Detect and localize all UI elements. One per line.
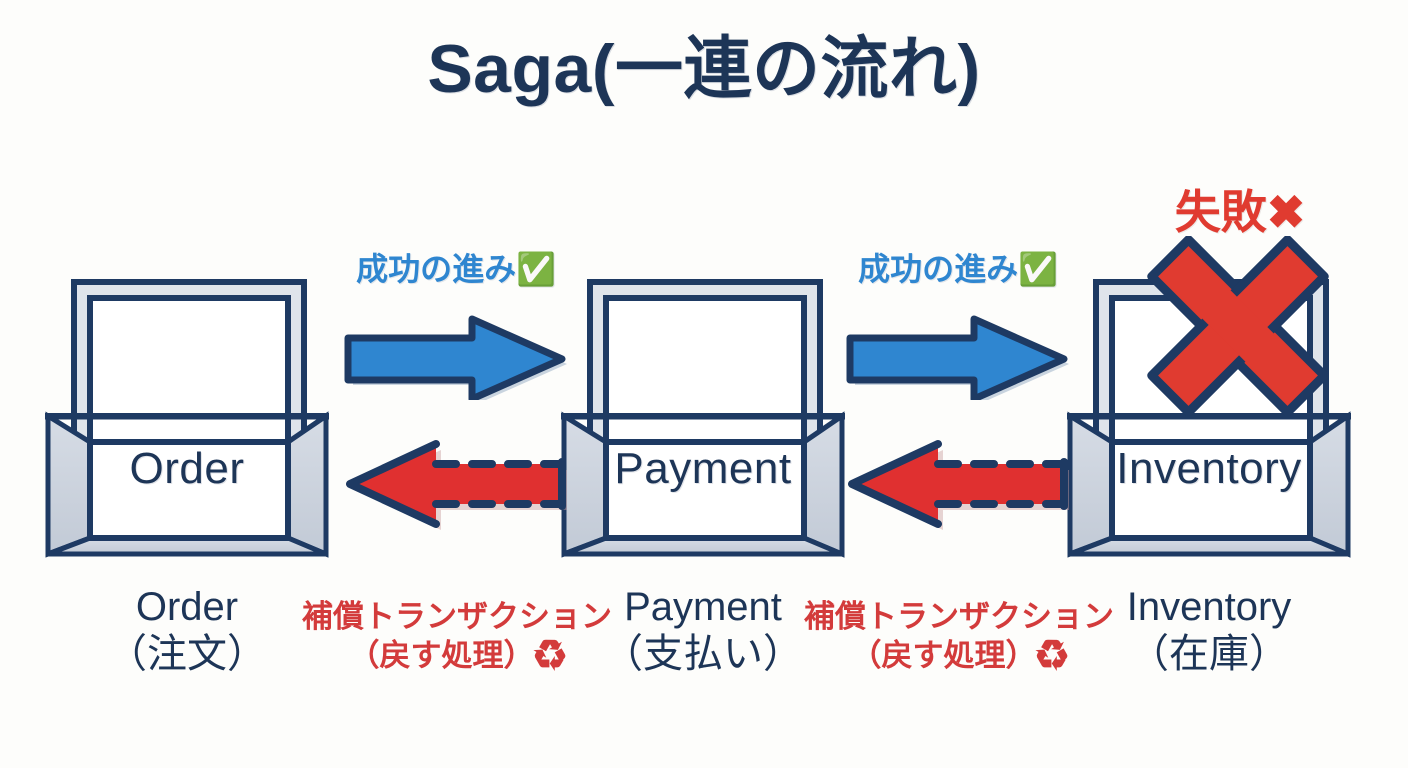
- check-mark-icon: ✅: [516, 251, 556, 287]
- node-payment[interactable]: Payment: [558, 276, 848, 561]
- compensating-label-1-line1: 補償トランザクション: [302, 599, 612, 634]
- compensating-arrow-label-1: 補償トランザクション （戻す処理）♻: [292, 598, 622, 676]
- node-caption-order-en: Order: [136, 585, 238, 629]
- forward-arrow-1[interactable]: [344, 310, 569, 400]
- compensating-label-2-line2: （戻す処理）♻: [794, 637, 1124, 676]
- forward-arrow-label-2: 成功の進み✅: [808, 244, 1108, 290]
- forward-arrow-label-2-text: 成功の進み: [858, 251, 1018, 287]
- node-order[interactable]: Order: [42, 276, 332, 561]
- compensating-arrow-2[interactable]: [846, 432, 1071, 532]
- diagram-canvas: Saga(一連の流れ): [0, 0, 1408, 768]
- node-caption-inventory-en: Inventory: [1127, 585, 1292, 629]
- forward-arrow-2[interactable]: [846, 310, 1071, 400]
- compensating-label-1-line2: （戻す処理）♻: [292, 637, 622, 676]
- page-title: Saga(一連の流れ): [0, 34, 1408, 105]
- check-mark-icon: ✅: [1018, 251, 1058, 287]
- crate-shape-order: [42, 276, 332, 561]
- compensating-arrow-label-2: 補償トランザクション （戻す処理）♻: [794, 598, 1124, 676]
- compensating-label-2-line1: 補償トランザクション: [804, 599, 1114, 634]
- forward-arrow-label-1-text: 成功の進み: [356, 251, 516, 287]
- forward-arrow-label-1: 成功の進み✅: [306, 244, 606, 290]
- compensating-arrow-1[interactable]: [344, 432, 569, 532]
- failure-x-mark-icon: [1108, 236, 1368, 416]
- node-caption-payment-en: Payment: [624, 585, 782, 629]
- crate-shape-payment: [558, 276, 848, 561]
- failure-label: 失敗✖: [1080, 176, 1400, 242]
